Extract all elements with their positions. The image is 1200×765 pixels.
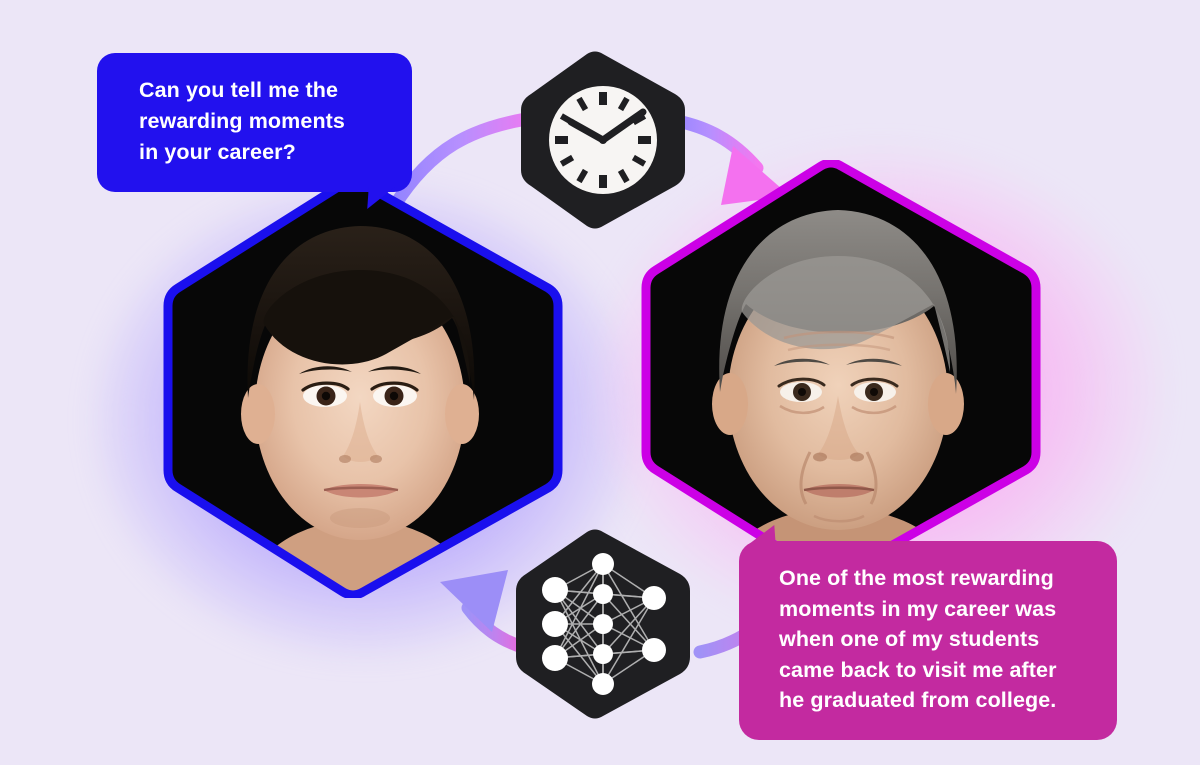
older-portrait-image — [638, 160, 1044, 580]
clock-badge[interactable] — [515, 50, 691, 230]
avatar-older-person[interactable] — [638, 160, 1044, 580]
neural-network-badge[interactable] — [508, 528, 698, 720]
answer-line-5: he graduated from college. — [779, 685, 1095, 716]
question-line-2: rewarding moments — [139, 106, 386, 137]
clock-icon — [549, 86, 657, 194]
avatar-young-person[interactable] — [160, 178, 566, 598]
answer-line-4: came back to visit me after — [779, 655, 1095, 686]
question-bubble-tail — [367, 187, 395, 209]
young-portrait-image — [160, 178, 566, 598]
question-line-3: in your career? — [139, 137, 386, 168]
answer-speech-bubble[interactable]: One of the most rewarding moments in my … — [739, 541, 1117, 740]
answer-line-1: One of the most rewarding — [779, 563, 1095, 594]
answer-bubble-tail — [746, 525, 775, 545]
answer-line-3: when one of my students — [779, 624, 1095, 655]
question-speech-bubble[interactable]: Can you tell me the rewarding moments in… — [97, 53, 412, 192]
question-line-1: Can you tell me the — [139, 75, 386, 106]
answer-line-2: moments in my career was — [779, 594, 1095, 625]
illustration-canvas: Can you tell me the rewarding moments in… — [0, 0, 1200, 765]
